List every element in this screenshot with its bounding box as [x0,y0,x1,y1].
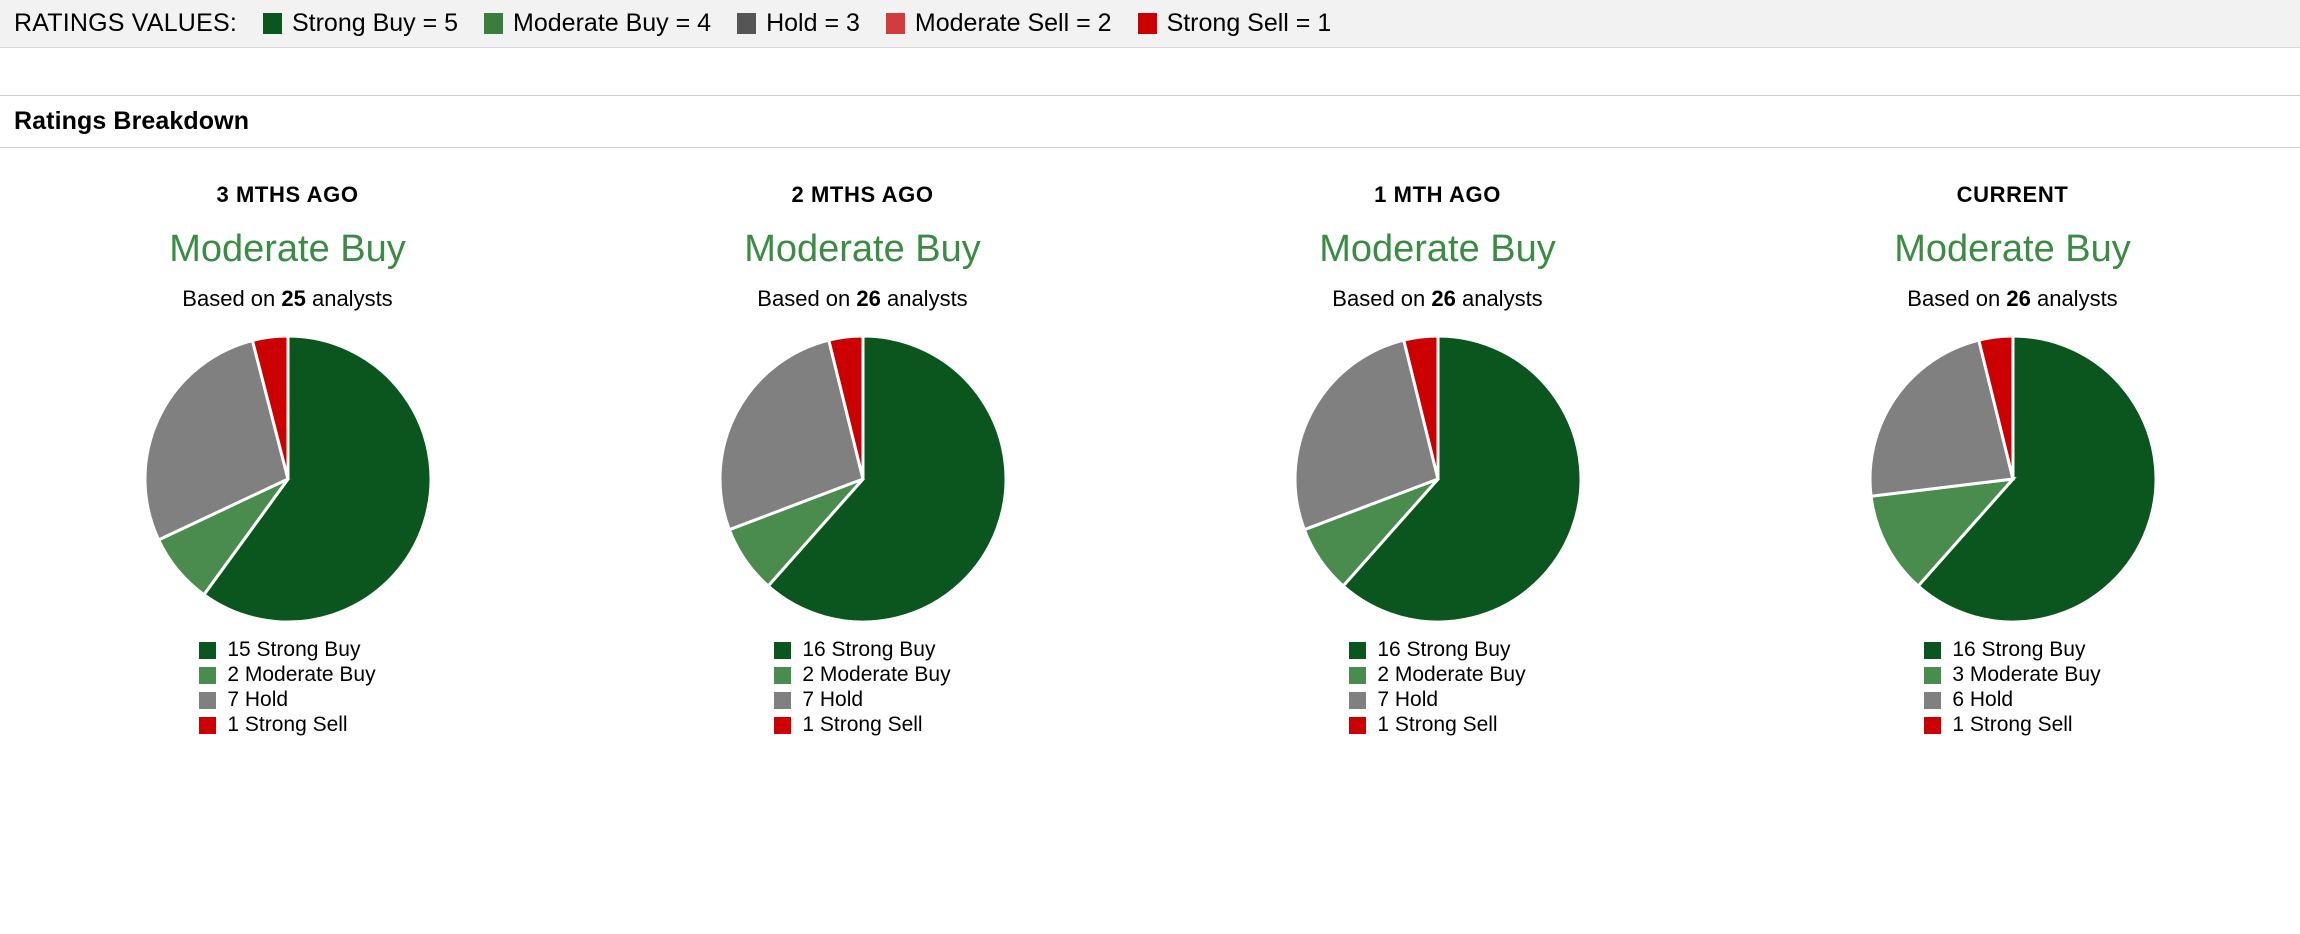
legend-item: 2 Moderate Buy [1349,663,1525,687]
legend-label: 7 Hold [802,688,863,712]
analyst-count-line: Based on 25 analysts [182,286,392,312]
legend-swatch [1924,642,1941,659]
legend-item: 1 Strong Sell [199,713,347,737]
legend-label: 16 Strong Buy [1952,638,2085,662]
consensus-rating: Moderate Buy [169,230,406,268]
analyst-count-line: Based on 26 analysts [1332,286,1542,312]
ratings-column-2: 2 MTHS AGOModerate BuyBased on 26 analys… [575,182,1150,738]
legend-label: 1 Strong Sell [802,713,922,737]
analyst-count-prefix: Based on [182,286,281,311]
legend-item: 1 Strong Sell [1924,713,2072,737]
ratings-breakdown-header: Ratings Breakdown [0,96,2300,148]
analyst-count-suffix: analysts [2031,286,2118,311]
legend-label: 2 Moderate Buy [1377,663,1525,687]
ratings-value-swatch-moderate-buy [484,13,503,34]
ratings-value-label: Strong Buy = 5 [292,9,458,38]
period-label: 1 MTH AGO [1374,182,1501,208]
ratings-value-swatch-moderate-sell [886,13,905,34]
ratings-breakdown-columns: 3 MTHS AGOModerate BuyBased on 25 analys… [0,148,2300,738]
legend-item: 7 Hold [774,688,863,712]
ratings-pie-chart [1868,334,2158,624]
ratings-value-item-strong-sell: Strong Sell = 1 [1138,9,1332,38]
analyst-count-value: 25 [281,286,305,311]
period-label: 3 MTHS AGO [216,182,358,208]
pie-legend: 16 Strong Buy2 Moderate Buy7 Hold1 Stron… [774,638,950,738]
analyst-count-prefix: Based on [757,286,856,311]
pie-legend: 16 Strong Buy2 Moderate Buy7 Hold1 Stron… [1349,638,1525,738]
period-label: 2 MTHS AGO [791,182,933,208]
legend-item: 7 Hold [1349,688,1438,712]
ratings-values-legend: Strong Buy = 5Moderate Buy = 4Hold = 3Mo… [263,9,1357,38]
section-title: Ratings Breakdown [14,107,249,136]
legend-swatch [774,642,791,659]
legend-label: 7 Hold [1377,688,1438,712]
legend-item: 16 Strong Buy [1924,638,2085,662]
pie-legend: 15 Strong Buy2 Moderate Buy7 Hold1 Stron… [199,638,375,738]
pie-legend: 16 Strong Buy3 Moderate Buy6 Hold1 Stron… [1924,638,2100,738]
legend-item: 7 Hold [199,688,288,712]
legend-swatch [1349,642,1366,659]
legend-swatch [1349,692,1366,709]
legend-item: 16 Strong Buy [1349,638,1510,662]
legend-label: 3 Moderate Buy [1952,663,2100,687]
analyst-count-line: Based on 26 analysts [1907,286,2117,312]
analyst-count-value: 26 [2006,286,2030,311]
legend-item: 2 Moderate Buy [199,663,375,687]
analyst-count-prefix: Based on [1907,286,2006,311]
ratings-pie-chart [1293,334,1583,624]
legend-label: 2 Moderate Buy [802,663,950,687]
ratings-value-label: Strong Sell = 1 [1167,9,1332,38]
legend-label: 6 Hold [1952,688,2013,712]
ratings-column-4: CURRENTModerate BuyBased on 26 analysts1… [1725,182,2300,738]
ratings-value-swatch-strong-sell [1138,13,1157,34]
ratings-pie-chart [143,334,433,624]
legend-item: 6 Hold [1924,688,2013,712]
period-label: CURRENT [1957,182,2069,208]
consensus-rating: Moderate Buy [1894,230,2131,268]
analyst-count-suffix: analysts [881,286,968,311]
analyst-count-suffix: analysts [1456,286,1543,311]
ratings-value-item-hold: Hold = 3 [737,9,860,38]
ratings-column-1: 3 MTHS AGOModerate BuyBased on 25 analys… [0,182,575,738]
legend-swatch [774,667,791,684]
analyst-count-suffix: analysts [306,286,393,311]
ratings-value-swatch-strong-buy [263,13,282,34]
content-divider-strip [0,48,2300,96]
legend-swatch [1349,667,1366,684]
consensus-rating: Moderate Buy [744,230,981,268]
ratings-value-item-strong-buy: Strong Buy = 5 [263,9,458,38]
legend-swatch [1924,692,1941,709]
legend-swatch [199,692,216,709]
legend-label: 2 Moderate Buy [227,663,375,687]
ratings-values-bar: RATINGS VALUES: Strong Buy = 5Moderate B… [0,0,2300,48]
legend-item: 1 Strong Sell [774,713,922,737]
legend-swatch [774,717,791,734]
legend-item: 1 Strong Sell [1349,713,1497,737]
legend-swatch [774,692,791,709]
ratings-value-item-moderate-sell: Moderate Sell = 2 [886,9,1112,38]
ratings-values-title: RATINGS VALUES: [14,9,237,38]
legend-label: 16 Strong Buy [1377,638,1510,662]
legend-label: 1 Strong Sell [1377,713,1497,737]
legend-swatch [199,642,216,659]
analyst-count-prefix: Based on [1332,286,1431,311]
legend-swatch [1924,667,1941,684]
legend-label: 7 Hold [227,688,288,712]
analyst-count-value: 26 [1431,286,1455,311]
ratings-value-label: Moderate Buy = 4 [513,9,711,38]
legend-label: 1 Strong Sell [1952,713,2072,737]
ratings-column-3: 1 MTH AGOModerate BuyBased on 26 analyst… [1150,182,1725,738]
legend-swatch [1924,717,1941,734]
legend-label: 15 Strong Buy [227,638,360,662]
legend-label: 1 Strong Sell [227,713,347,737]
legend-item: 16 Strong Buy [774,638,935,662]
legend-swatch [199,717,216,734]
ratings-value-label: Hold = 3 [766,9,860,38]
analyst-count-value: 26 [856,286,880,311]
ratings-pie-chart [718,334,1008,624]
ratings-value-swatch-hold [737,13,756,34]
ratings-value-item-moderate-buy: Moderate Buy = 4 [484,9,711,38]
legend-item: 3 Moderate Buy [1924,663,2100,687]
consensus-rating: Moderate Buy [1319,230,1556,268]
legend-swatch [1349,717,1366,734]
legend-label: 16 Strong Buy [802,638,935,662]
legend-item: 2 Moderate Buy [774,663,950,687]
ratings-value-label: Moderate Sell = 2 [915,9,1112,38]
analyst-count-line: Based on 26 analysts [757,286,967,312]
legend-item: 15 Strong Buy [199,638,360,662]
legend-swatch [199,667,216,684]
